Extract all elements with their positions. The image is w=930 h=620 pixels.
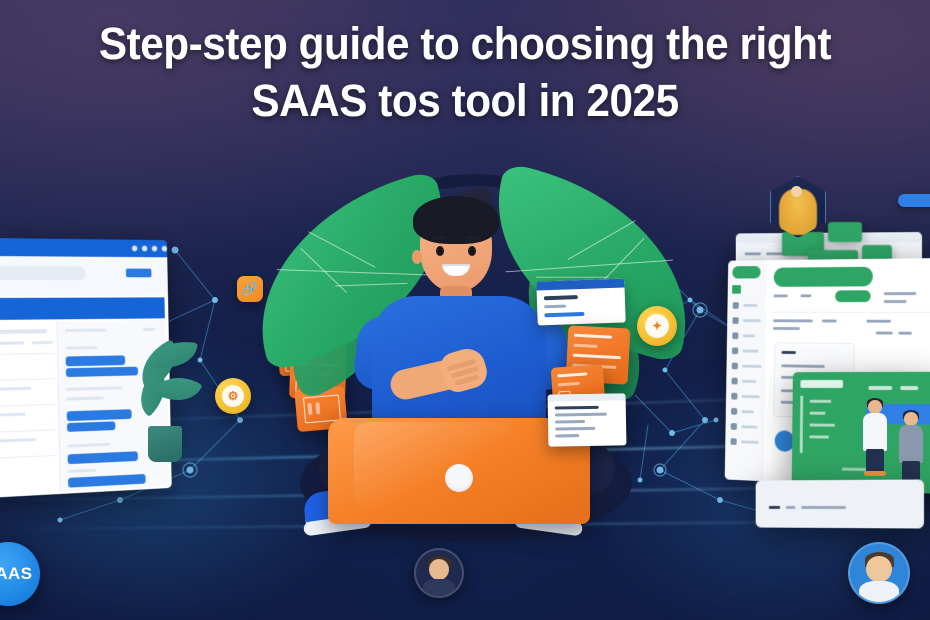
right-dashboard-cta[interactable]: [835, 290, 871, 302]
plant-pot: [148, 426, 182, 462]
eyebrow-left: [433, 236, 446, 239]
person-hair: [413, 196, 499, 244]
eye-left: [436, 246, 444, 256]
message-bubble[interactable]: [68, 474, 146, 488]
poster-canvas: Step-step guide to choosing the right SA…: [0, 0, 930, 620]
eyebrow-right: [466, 236, 479, 239]
person-figure-right-b: [898, 412, 924, 486]
sidebar-logo[interactable]: [732, 266, 760, 279]
message-bubble[interactable]: [67, 409, 132, 421]
share-icon: ✦: [645, 314, 670, 339]
message-bubble[interactable]: [66, 355, 126, 366]
right-dashboard-banner[interactable]: [774, 267, 873, 287]
left-dashboard-header-icons[interactable]: [132, 245, 167, 251]
floating-green-card[interactable]: [828, 222, 862, 242]
message-bubble[interactable]: [66, 367, 138, 377]
left-dashboard-title-bar: [0, 297, 165, 320]
left-dashboard-action-button[interactable]: [126, 269, 152, 278]
search-input[interactable]: [0, 266, 86, 280]
laptop-logo: [445, 464, 473, 492]
floating-browser-card[interactable]: [536, 278, 625, 325]
right-bottom-strip[interactable]: [756, 479, 924, 528]
menu-icon[interactable]: [162, 246, 167, 252]
person-figure-right-a: [862, 400, 888, 474]
share-icon-coin[interactable]: ⚙: [215, 378, 251, 414]
browser-title-bar: [536, 278, 624, 290]
message-bubble[interactable]: [68, 451, 138, 464]
floating-pill-button[interactable]: [898, 194, 930, 207]
potted-plant-left: [130, 340, 200, 460]
avatar-bottom-right[interactable]: [848, 542, 910, 604]
bell-icon[interactable]: [132, 245, 138, 251]
share-icon-coin[interactable]: ✦: [637, 306, 677, 346]
share-icon: ⚙: [222, 385, 244, 407]
settings-icon[interactable]: [152, 246, 158, 252]
message-bubble[interactable]: [67, 421, 115, 432]
eye-right: [468, 246, 476, 256]
avatar-bottom-center[interactable]: [414, 548, 464, 598]
cart-icon[interactable]: [142, 246, 148, 252]
sidebar-brand-icon: [732, 285, 741, 294]
floating-browser-card[interactable]: [548, 393, 627, 446]
person-ear: [412, 250, 422, 264]
